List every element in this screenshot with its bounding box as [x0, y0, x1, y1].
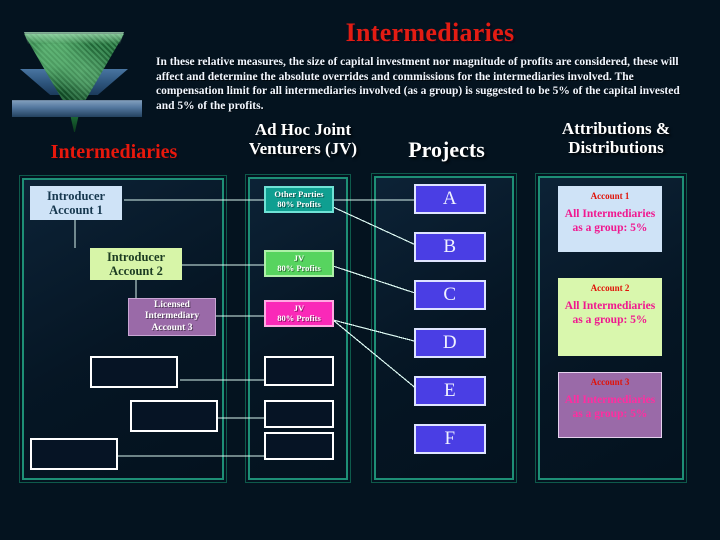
- attribution-account-2[interactable]: Account 2 All Intermediaries as a group:…: [558, 278, 662, 356]
- column-header-intermediaries: Intermediaries: [14, 141, 214, 163]
- project-b[interactable]: B: [414, 232, 486, 262]
- empty-jv-node-4[interactable]: [264, 356, 334, 386]
- introducer-account-2[interactable]: Introducer Account 2: [90, 248, 182, 280]
- project-d[interactable]: D: [414, 328, 486, 358]
- attribution-account-1[interactable]: Account 1 All Intermediaries as a group:…: [558, 186, 662, 252]
- attribution-account-1-body-line2: as a group: 5%: [565, 222, 655, 236]
- attribution-account-2-title: Account 2: [591, 283, 630, 293]
- attribution-account-1-title: Account 1: [591, 191, 630, 201]
- project-f[interactable]: F: [414, 424, 486, 454]
- project-d-label: D: [443, 332, 457, 354]
- column-header-projects: Projects: [384, 138, 509, 163]
- jv-80-profits-pink[interactable]: JV 80% Profits: [264, 300, 334, 327]
- attribution-account-2-body: All Intermediaries as a group: 5%: [565, 300, 655, 327]
- introducer-account-1-line2: Account 1: [49, 203, 103, 218]
- attribution-account-3[interactable]: Account 3 All Intermediaries as a group:…: [558, 372, 662, 438]
- project-e[interactable]: E: [414, 376, 486, 406]
- logo-base-bar: [12, 100, 142, 117]
- jv-green-line2: 80% Profits: [277, 264, 321, 274]
- slide-canvas: Intermediaries In these relative measure…: [0, 0, 720, 540]
- empty-jv-node-5[interactable]: [264, 400, 334, 428]
- licensed-intermediary-line3: Account 3: [152, 323, 193, 334]
- empty-jv-node-6[interactable]: [264, 432, 334, 460]
- attribution-account-2-body-line1: All Intermediaries: [565, 300, 655, 314]
- attribution-account-3-body-line1: All Intermediaries: [565, 394, 655, 408]
- column-header-jv-line2: Venturers (JV): [228, 139, 378, 158]
- project-f-label: F: [444, 428, 455, 450]
- project-a[interactable]: A: [414, 184, 486, 214]
- other-parties-line2: 80% Profits: [277, 200, 321, 210]
- empty-node-4[interactable]: [90, 356, 178, 388]
- introducer-account-1[interactable]: Introducer Account 1: [30, 186, 122, 220]
- column-header-attr-line1: Attributions &: [524, 119, 708, 138]
- jv-80-profits-green[interactable]: JV 80% Profits: [264, 250, 334, 277]
- logo-triangle-rim: [24, 32, 124, 44]
- attribution-account-1-body: All Intermediaries as a group: 5%: [565, 208, 655, 235]
- column-header-attr-line2: Distributions: [524, 138, 708, 157]
- licensed-intermediary-account-3[interactable]: Licensed Intermediary Account 3: [128, 298, 216, 336]
- empty-node-6[interactable]: [30, 438, 118, 470]
- licensed-intermediary-line2: Intermediary: [145, 311, 199, 322]
- column-header-joint-venturers: Ad Hoc Joint Venturers (JV): [228, 120, 378, 158]
- project-e-label: E: [444, 380, 456, 402]
- inverted-triangle-funnel-logo: [6, 14, 142, 110]
- project-c-label: C: [443, 284, 456, 306]
- attribution-account-3-title: Account 3: [591, 377, 630, 387]
- project-c[interactable]: C: [414, 280, 486, 310]
- introducer-account-2-line1: Introducer: [107, 250, 165, 265]
- other-parties-80-profits[interactable]: Other Parties 80% Profits: [264, 186, 334, 213]
- attribution-account-2-body-line2: as a group: 5%: [565, 314, 655, 328]
- jv-pink-line2: 80% Profits: [277, 314, 321, 324]
- attribution-account-1-body-line1: All Intermediaries: [565, 208, 655, 222]
- page-title: Intermediaries: [150, 18, 710, 48]
- intro-paragraph: In these relative measures, the size of …: [156, 55, 698, 113]
- empty-node-5[interactable]: [130, 400, 218, 432]
- column-header-attributions: Attributions & Distributions: [524, 119, 708, 157]
- attribution-account-3-body: All Intermediaries as a group: 5%: [565, 394, 655, 421]
- project-a-label: A: [443, 188, 457, 210]
- project-b-label: B: [443, 236, 456, 258]
- introducer-account-2-line2: Account 2: [109, 264, 163, 279]
- attribution-account-3-body-line2: as a group: 5%: [565, 408, 655, 422]
- licensed-intermediary-line1: Licensed: [154, 300, 190, 311]
- introducer-account-1-line1: Introducer: [47, 189, 105, 204]
- column-header-jv-line1: Ad Hoc Joint: [228, 120, 378, 139]
